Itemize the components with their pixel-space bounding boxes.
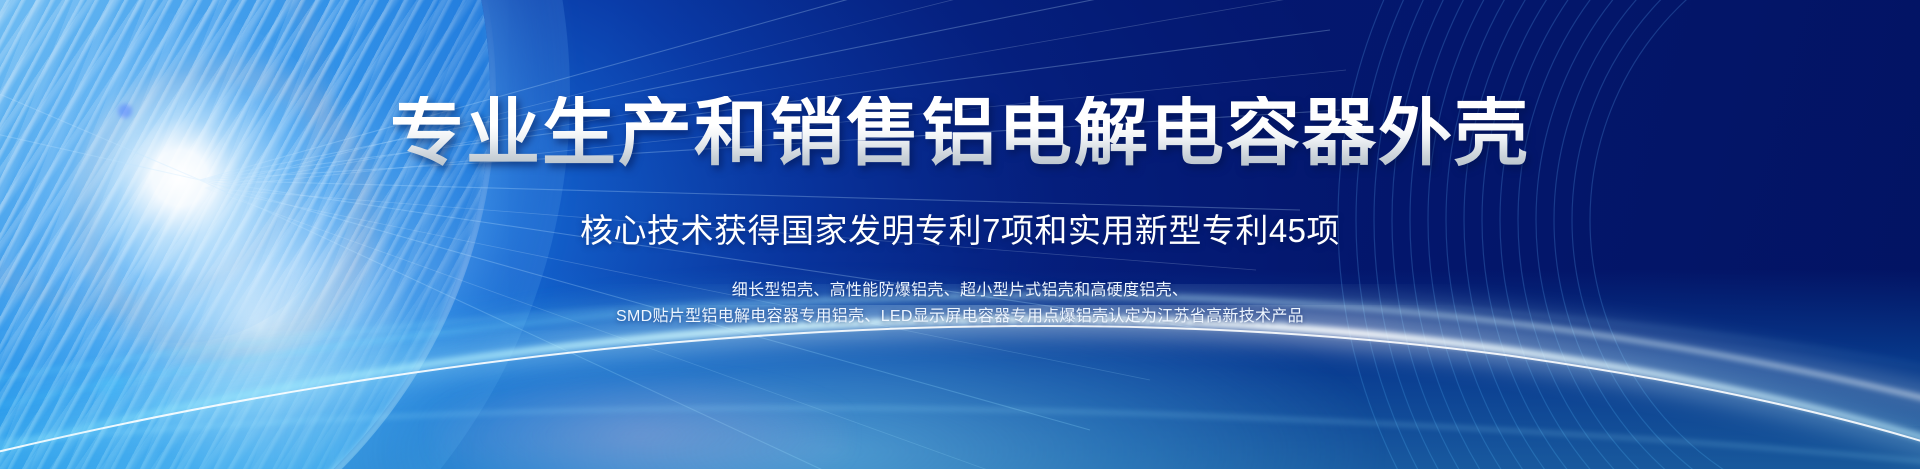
banner-headline: 专业生产和销售铝电解电容器外壳: [390, 96, 1530, 170]
promo-banner: 专业生产和销售铝电解电容器外壳 核心技术获得国家发明专利7项和实用新型专利45项…: [0, 0, 1920, 469]
banner-description-line-1: 细长型铝壳、高性能防爆铝壳、超小型片式铝壳和高硬度铝壳、: [616, 278, 1304, 304]
banner-description-line-2: SMD贴片型铝电解电容器专用铝壳、LED显示屏电容器专用点爆铝壳认定为江苏省高新…: [616, 304, 1304, 330]
banner-content: 专业生产和销售铝电解电容器外壳 核心技术获得国家发明专利7项和实用新型专利45项…: [0, 0, 1920, 469]
banner-subheadline: 核心技术获得国家发明专利7项和实用新型专利45项: [580, 204, 1340, 252]
banner-description: 细长型铝壳、高性能防爆铝壳、超小型片式铝壳和高硬度铝壳、 SMD贴片型铝电解电容…: [616, 278, 1304, 331]
